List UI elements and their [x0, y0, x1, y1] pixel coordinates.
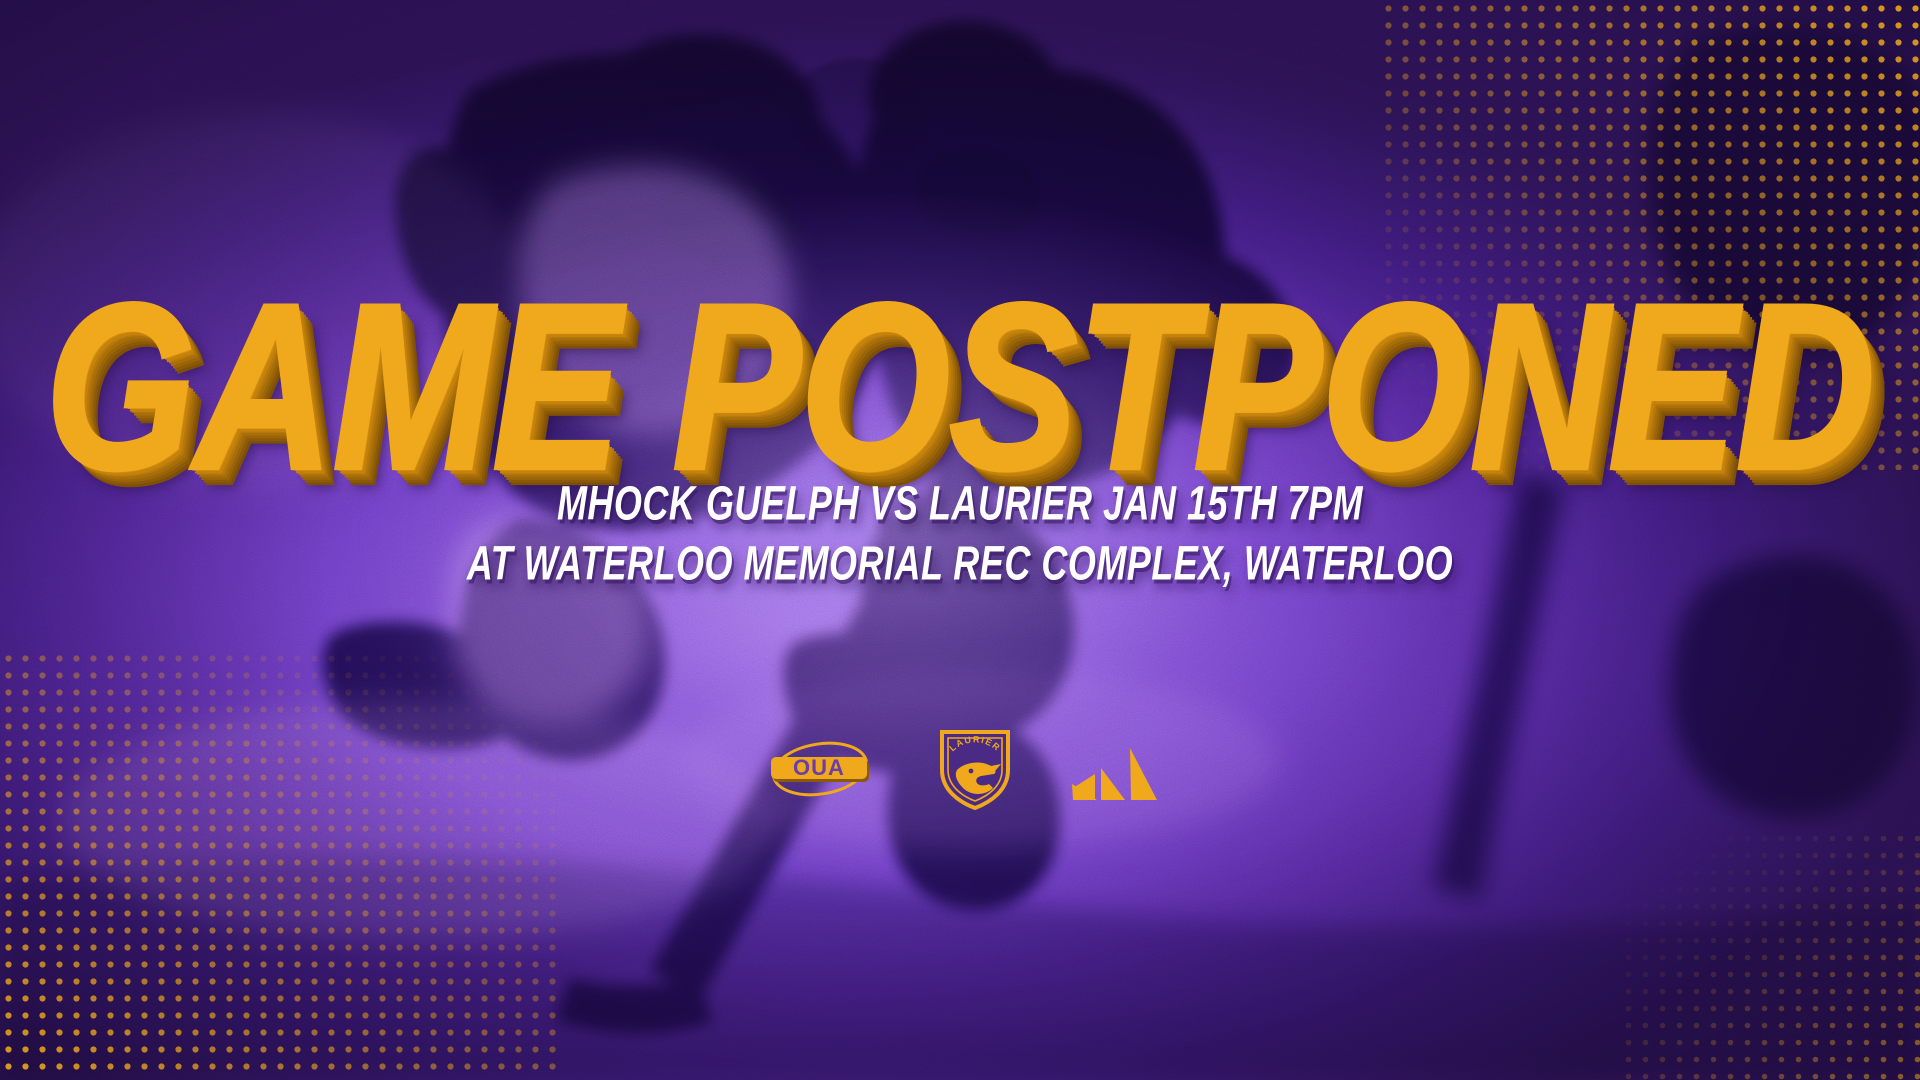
laurier-logo: LAURIER: [937, 726, 1013, 812]
oua-logo: OUA: [761, 732, 879, 806]
svg-text:OUA: OUA: [793, 755, 845, 780]
logo-strip: OUA LAURIER: [0, 726, 1920, 812]
background-photo-highlight-layer: [0, 0, 1920, 1080]
game-postponed-poster: GAME POSTPONED MHOCK GUELPH VS LAURIER J…: [0, 0, 1920, 1080]
adidas-logo: [1071, 738, 1159, 800]
